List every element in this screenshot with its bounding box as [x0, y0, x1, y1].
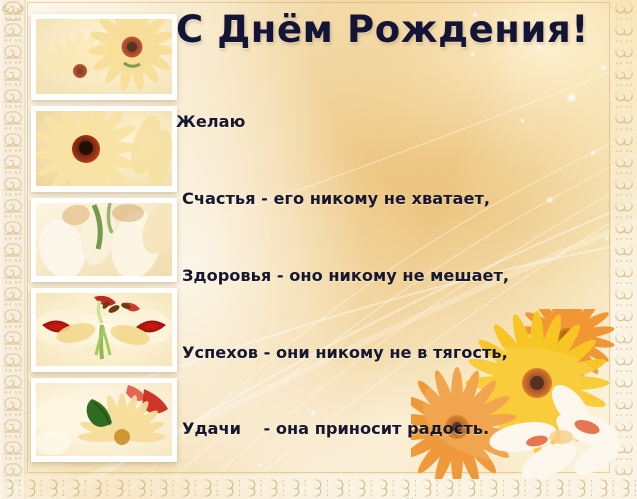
- ornament-border-left: [0, 0, 26, 499]
- cream-lily-image: [36, 203, 172, 276]
- yellow-gerbera-pair-image: [36, 19, 172, 94]
- red-yellow-lily-image: [36, 293, 172, 366]
- photo-frame-red-yellow-lily: [31, 288, 177, 372]
- poem-line: Желаю: [176, 109, 628, 135]
- poem-line: Успехов - они никому не в тягость,: [176, 340, 628, 366]
- photo-frame-cream-lily: [31, 198, 177, 282]
- yellow-gerbera-closeup-image: [36, 111, 172, 186]
- photo-frame-gerbera-with-leaf: [31, 378, 177, 462]
- poem-line: Счастья - его никому не хватает,: [176, 186, 628, 212]
- poem-line: Удачи - она приносит радость.: [176, 416, 628, 442]
- gerbera-with-leaf-image: [36, 383, 172, 456]
- poem-text: Желаю Счастья - его никому не хватает, З…: [176, 58, 628, 499]
- photo-frame-yellow-gerbera-closeup: [31, 106, 177, 192]
- poem-line: И много хороших друзей,: [176, 493, 628, 499]
- photo-frame-yellow-gerbera-pair: [31, 14, 177, 100]
- birthday-greeting-card: С Днём Рождения! Желаю Счастья - его ник…: [0, 0, 637, 499]
- poem-line: Здоровья - оно никому не мешает,: [176, 263, 628, 289]
- page-title: С Днём Рождения!: [176, 8, 589, 52]
